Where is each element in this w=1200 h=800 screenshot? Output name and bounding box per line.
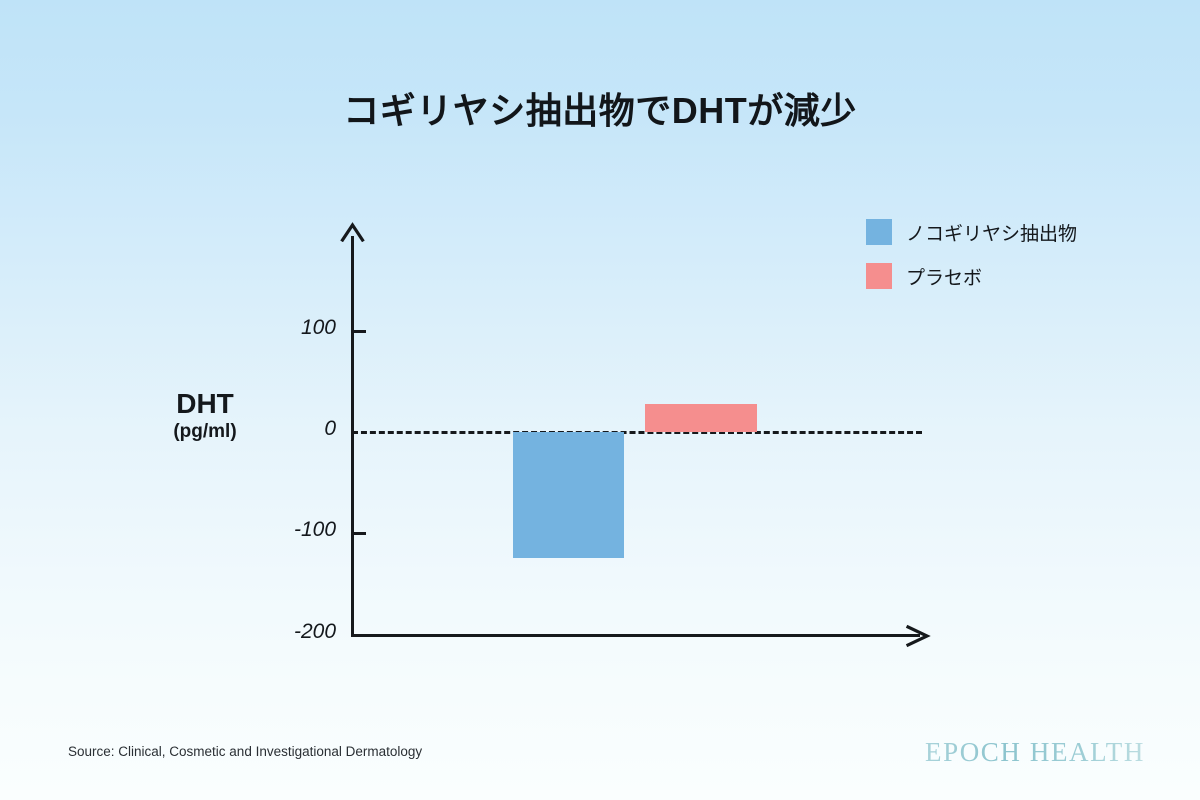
y-tick-label-minus200: -200 [216, 620, 336, 644]
source-note: Source: Clinical, Cosmetic and Investiga… [68, 744, 422, 759]
chart-canvas: コギリヤシ抽出物でDHTが減少 100 0 -100 -200 [0, 0, 1200, 800]
epoch-health-logo: EPOCH HEALTH [925, 735, 1170, 769]
legend-swatch-saw-palmetto [866, 219, 892, 245]
legend-swatch-placebo [866, 263, 892, 289]
y-tick-mark-100 [352, 330, 366, 333]
legend-label-placebo: プラセボ [906, 263, 982, 290]
y-axis-arrow-icon [340, 222, 365, 242]
y-axis-title: DHT (pg/ml) [140, 390, 270, 446]
legend-item-saw-palmetto[interactable]: ノコギリヤシ抽出物 [866, 219, 1077, 245]
brand-wordmark: EPOCH HEALTH [925, 737, 1145, 767]
bar-placebo [645, 404, 757, 432]
x-axis-arrow-icon [905, 624, 931, 648]
y-axis-title-unit: (pg/ml) [140, 418, 270, 446]
legend-label-saw-palmetto: ノコギリヤシ抽出物 [906, 219, 1077, 246]
y-tick-mark-minus100 [352, 532, 366, 535]
zero-reference-line [352, 431, 922, 434]
y-axis-title-main: DHT [140, 390, 270, 418]
y-axis-line [351, 236, 354, 637]
chart-legend: ノコギリヤシ抽出物 プラセボ [866, 219, 1077, 307]
x-axis-line [352, 634, 920, 637]
y-tick-label-minus100: -100 [216, 518, 336, 542]
plot-area: 100 0 -100 -200 DHT (pg/ml) [0, 0, 1200, 800]
bar-saw-palmetto [513, 432, 624, 558]
y-tick-label-100: 100 [216, 316, 336, 340]
legend-item-placebo[interactable]: プラセボ [866, 263, 1077, 289]
